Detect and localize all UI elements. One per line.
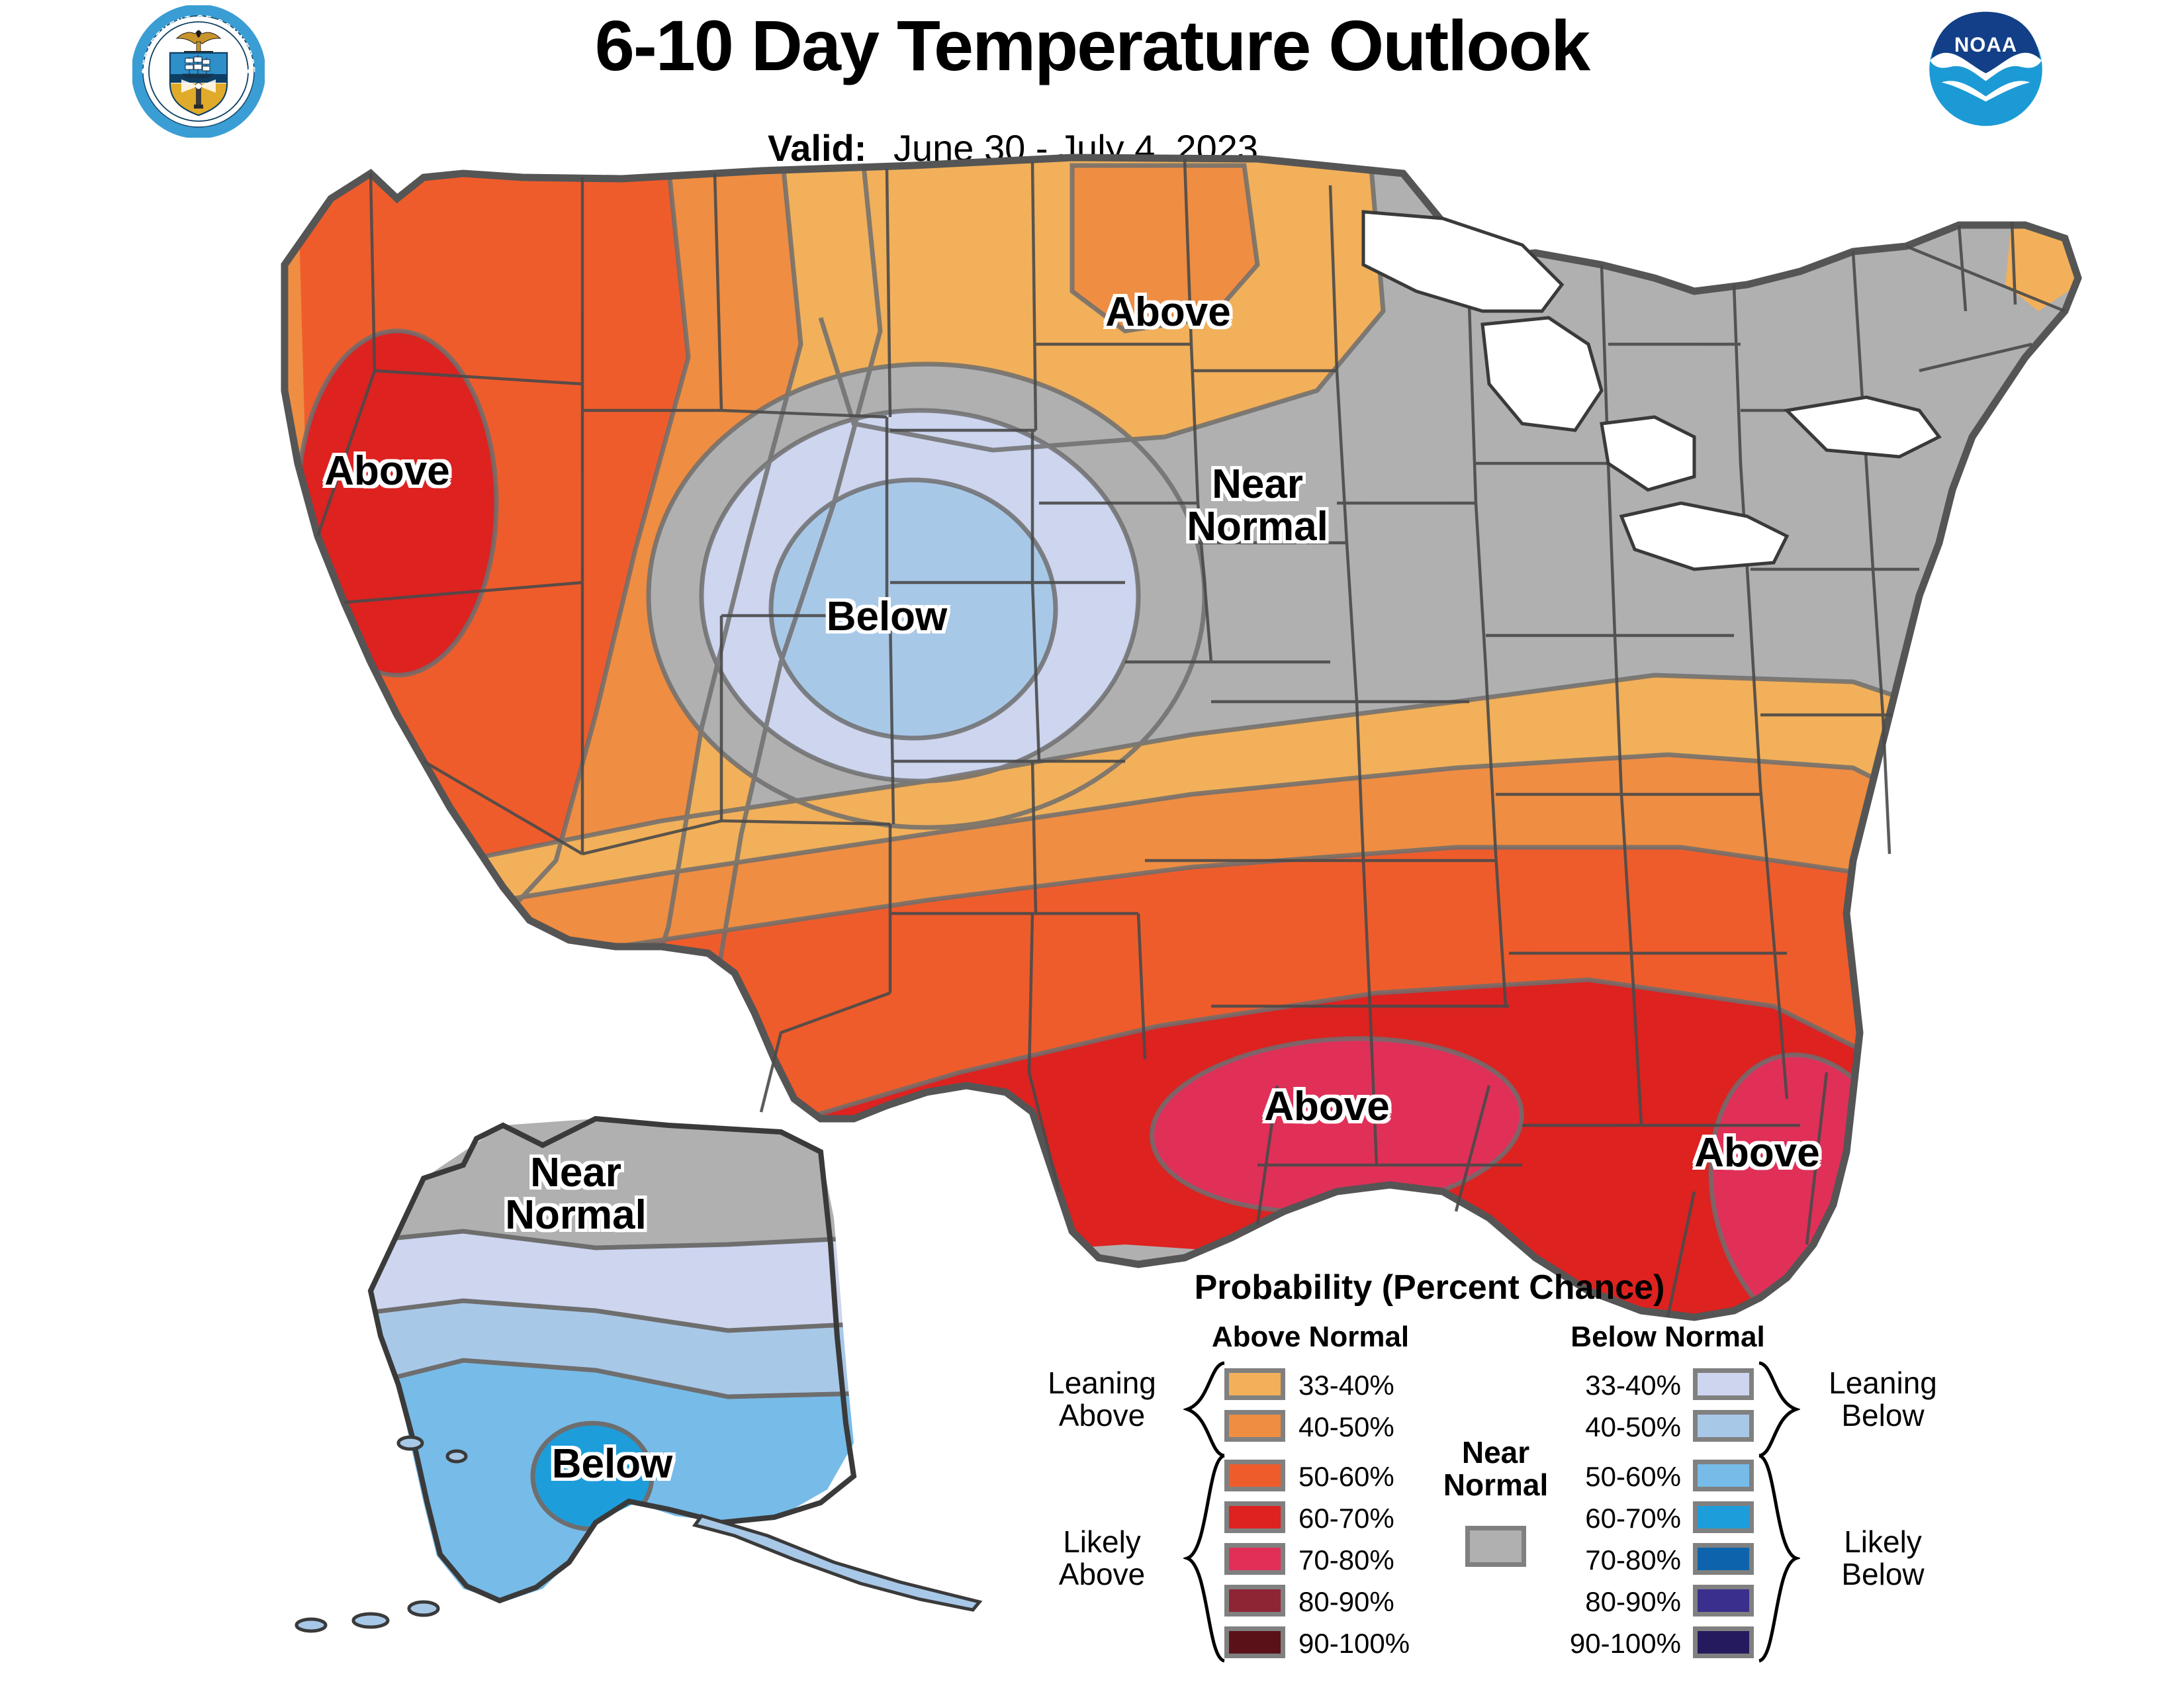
legend-header-below-normal: Below Normal bbox=[1562, 1321, 1774, 1354]
legend-label-above-90-100: 90-100% bbox=[1298, 1628, 1410, 1660]
probability-legend: Probability (Percent Chance) Above Norma… bbox=[1013, 1268, 1846, 1665]
legend-label-below-60-70: 60-70% bbox=[1522, 1503, 1681, 1534]
legend-group-likely-above: Likely Above bbox=[1019, 1526, 1185, 1591]
legend-swatch-below-70-80 bbox=[1693, 1543, 1754, 1575]
legend-label-above-60-70: 60-70% bbox=[1298, 1503, 1394, 1534]
legend-header-above-normal: Above Normal bbox=[1205, 1321, 1416, 1354]
legend-group-likely-below: Likely Below bbox=[1800, 1526, 1966, 1591]
legend-swatch-above-90-100 bbox=[1224, 1626, 1285, 1658]
legend-label-above-80-90: 80-90% bbox=[1298, 1586, 1394, 1618]
legend-group-leaning-below: Leaning Below bbox=[1800, 1367, 1966, 1432]
legend-swatch-above-40-50 bbox=[1224, 1410, 1285, 1442]
legend-swatch-near-normal bbox=[1465, 1526, 1526, 1567]
legend-group-leaning-above: Leaning Above bbox=[1019, 1367, 1185, 1432]
legend-label-above-40-50: 40-50% bbox=[1298, 1411, 1394, 1443]
legend-swatch-above-80-90 bbox=[1224, 1585, 1285, 1617]
legend-label-below-80-90: 80-90% bbox=[1522, 1586, 1681, 1618]
brace-leaning-above bbox=[1183, 1360, 1227, 1458]
legend-swatch-above-60-70 bbox=[1224, 1501, 1285, 1533]
brace-likely-below bbox=[1756, 1453, 1800, 1664]
legend-label-below-70-80: 70-80% bbox=[1522, 1544, 1681, 1576]
legend-swatch-below-90-100 bbox=[1693, 1626, 1754, 1658]
legend-near-normal-label: Near Normal bbox=[1430, 1436, 1562, 1501]
legend-swatch-below-60-70 bbox=[1693, 1501, 1754, 1533]
legend-swatch-above-70-80 bbox=[1224, 1543, 1285, 1575]
legend-swatch-below-80-90 bbox=[1693, 1585, 1754, 1617]
legend-label-above-70-80: 70-80% bbox=[1298, 1544, 1394, 1576]
legend-swatch-above-50-60 bbox=[1224, 1460, 1285, 1491]
legend-swatch-below-40-50 bbox=[1693, 1410, 1754, 1442]
legend-swatch-below-33-40 bbox=[1693, 1368, 1754, 1400]
legend-swatch-below-50-60 bbox=[1693, 1460, 1754, 1491]
legend-swatch-above-33-40 bbox=[1224, 1368, 1285, 1400]
legend-label-below-90-100: 90-100% bbox=[1522, 1628, 1681, 1660]
conus-outlook-fill bbox=[0, 0, 2184, 1456]
brace-likely-above bbox=[1183, 1453, 1227, 1664]
brace-leaning-below bbox=[1756, 1360, 1800, 1458]
legend-label-above-50-60: 50-60% bbox=[1298, 1461, 1394, 1493]
legend-label-above-33-40: 33-40% bbox=[1298, 1370, 1394, 1401]
alaska-inset bbox=[296, 1092, 979, 1631]
legend-label-below-33-40: 33-40% bbox=[1522, 1370, 1681, 1401]
legend-title: Probability (Percent Chance) bbox=[1013, 1268, 1846, 1307]
